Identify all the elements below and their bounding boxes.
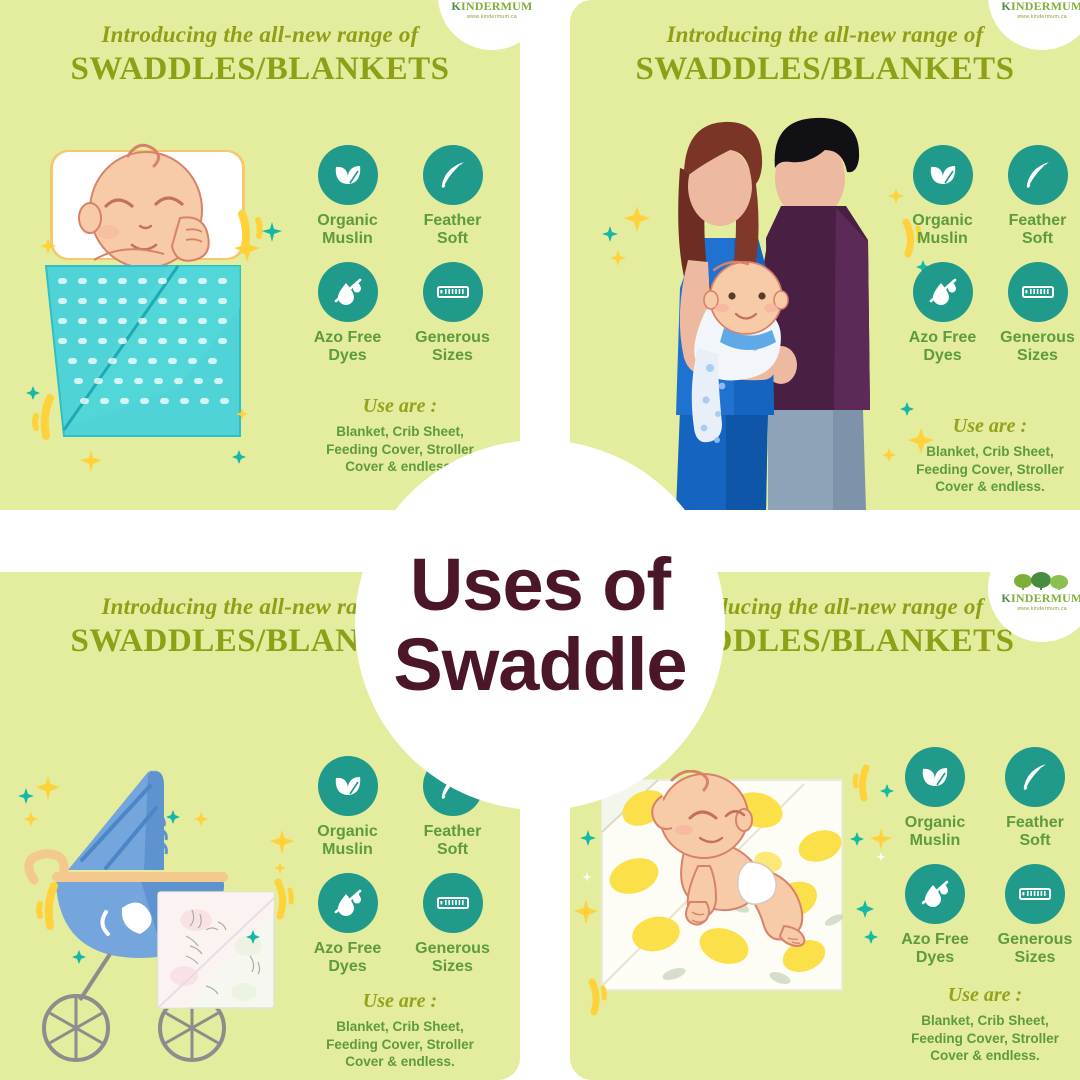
- sparkle-yellow-star-2: [270, 830, 294, 854]
- poster-canvas: Introducing the all-new range of SWADDLE…: [0, 0, 1080, 1080]
- sparkle-yellow-strokes-2: [32, 880, 64, 940]
- sparkle-yellow-strokes: [582, 978, 608, 1026]
- feature-label: Generous Sizes: [995, 329, 1080, 365]
- sparkle-yellow-star-small: [610, 250, 626, 266]
- sparkle-teal-star-2: [26, 386, 40, 400]
- use-title: Use are :: [300, 990, 500, 1013]
- leaves-icon: [913, 145, 973, 205]
- leaves-icon: [318, 756, 378, 816]
- feature-label: Generous Sizes: [405, 329, 500, 365]
- feature-label: Organic Muslin: [300, 823, 395, 859]
- overlay-title-line2: Swaddle: [393, 625, 686, 705]
- sparkle-teal-star: [602, 226, 618, 242]
- use-block-tr: Use are : Blanket, Crib Sheet, Feeding C…: [890, 415, 1080, 496]
- sparkle-white-dot-2: [876, 852, 886, 862]
- sparkle-yellow-star-small: [40, 238, 56, 254]
- feature-azo-free-dyes: Azo Free Dyes: [300, 873, 395, 976]
- use-block-bl: Use are : Blanket, Crib Sheet, Feeding C…: [300, 990, 500, 1071]
- overlay-title-line1: Uses of: [410, 545, 670, 625]
- sparkle-yellow-star-small: [24, 812, 38, 826]
- sparkle-white-dot: [582, 872, 592, 882]
- sparkle-teal-star-3: [232, 450, 246, 464]
- feature-azo-free-dyes: Azo Free Dyes: [900, 262, 985, 365]
- sparkle-yellow-star-small-2: [194, 812, 208, 826]
- feather-icon: [423, 145, 483, 205]
- no-dye-drop-icon: [905, 864, 965, 924]
- ruler-icon: [423, 262, 483, 322]
- feature-label: Generous Sizes: [990, 931, 1080, 967]
- brand-url: www.kindermum.ca: [467, 14, 517, 20]
- feature-generous-sizes: Generous Sizes: [990, 864, 1080, 967]
- brand-name: KINDERMUM: [1001, 592, 1080, 604]
- use-body: Blanket, Crib Sheet, Feeding Cover, Stro…: [890, 1012, 1080, 1065]
- sparkle-teal-star-4: [864, 930, 878, 944]
- feature-grid-br: Organic Muslin Feather Soft Azo Free Dye…: [890, 747, 1080, 967]
- no-dye-drop-icon: [913, 262, 973, 322]
- panel-top-left: Introducing the all-new range of SWADDLE…: [0, 0, 520, 510]
- no-dye-drop-icon: [318, 262, 378, 322]
- feature-label: Generous Sizes: [405, 940, 500, 976]
- feature-label: Feather Soft: [405, 823, 500, 859]
- sparkle-yellow-star: [36, 776, 60, 800]
- sparkle-teal-star: [18, 788, 34, 804]
- illustration-baby-sleeping-under-teal-blanket: [28, 138, 290, 458]
- no-dye-drop-icon: [318, 873, 378, 933]
- use-title: Use are :: [300, 395, 500, 418]
- trees-icon: [1013, 571, 1071, 591]
- feature-label: Azo Free Dyes: [300, 940, 395, 976]
- sparkle-teal-star: [580, 830, 596, 846]
- feature-label: Feather Soft: [995, 212, 1080, 248]
- sparkle-teal-star-4: [246, 930, 260, 944]
- feature-label: Feather Soft: [990, 814, 1080, 850]
- sparkle-teal-star-2: [166, 810, 180, 824]
- ruler-icon: [1005, 864, 1065, 924]
- feature-organic-muslin: Organic Muslin: [300, 756, 395, 859]
- feather-icon: [1008, 145, 1068, 205]
- feature-azo-free-dyes: Azo Free Dyes: [300, 262, 395, 365]
- feature-label: Organic Muslin: [900, 212, 985, 248]
- heading-block-tl: Introducing the all-new range of SWADDLE…: [0, 22, 520, 88]
- heading-title: SWADDLES/BLANKETS: [0, 51, 520, 88]
- feature-grid-tl: Organic Muslin Feather Soft Azo Free Dye…: [300, 145, 500, 365]
- feature-generous-sizes: Generous Sizes: [995, 262, 1080, 365]
- ruler-icon: [423, 873, 483, 933]
- feature-label: Organic Muslin: [300, 212, 395, 248]
- sparkle-teal-star-3: [856, 900, 874, 918]
- illustration-parents-holding-swaddled-baby: [618, 110, 908, 510]
- brand-name: KINDERMUM: [1001, 0, 1080, 12]
- feature-organic-muslin: Organic Muslin: [300, 145, 395, 248]
- feature-label: Organic Muslin: [890, 814, 980, 850]
- sparkle-teal-star-2: [850, 832, 864, 846]
- feature-label: Azo Free Dyes: [300, 329, 395, 365]
- brand-url: www.kindermum.ca: [1017, 14, 1067, 20]
- center-title-badge: Uses of Swaddle: [355, 440, 725, 810]
- sparkle-yellow-star: [234, 236, 260, 262]
- sparkle-teal-star-3: [72, 950, 86, 964]
- sparkle-yellow-dot: [274, 862, 286, 874]
- use-block-br: Use are : Blanket, Crib Sheet, Feeding C…: [890, 984, 1080, 1065]
- feature-label: Azo Free Dyes: [890, 931, 980, 967]
- feature-feather-soft: Feather Soft: [990, 747, 1080, 850]
- use-title: Use are :: [890, 415, 1080, 438]
- feature-generous-sizes: Generous Sizes: [405, 262, 500, 365]
- sparkle-yellow-star-2: [870, 828, 892, 850]
- use-body: Blanket, Crib Sheet, Feeding Cover, Stro…: [890, 443, 1080, 496]
- sparkle-yellow-strokes-2: [852, 764, 878, 812]
- feature-feather-soft: Feather Soft: [405, 145, 500, 248]
- brand-name: KINDERMUM: [451, 0, 532, 12]
- feature-organic-muslin: Organic Muslin: [900, 145, 985, 248]
- ruler-icon: [1008, 262, 1068, 322]
- feather-icon: [1005, 747, 1065, 807]
- sparkle-teal-star-3: [900, 402, 914, 416]
- sparkle-yellow-strokes: [268, 878, 296, 930]
- heading-subtitle: Introducing the all-new range of: [0, 22, 520, 48]
- feature-organic-muslin: Organic Muslin: [890, 747, 980, 850]
- heading-title: SWADDLES/BLANKETS: [570, 51, 1080, 88]
- sparkle-yellow-star: [624, 206, 650, 232]
- sparkle-yellow-star-3: [80, 450, 102, 472]
- use-title: Use are :: [890, 984, 1080, 1007]
- feature-azo-free-dyes: Azo Free Dyes: [890, 864, 980, 967]
- feature-feather-soft: Feather Soft: [995, 145, 1080, 248]
- sparkle-yellow-star: [574, 900, 598, 924]
- sparkle-teal-star: [262, 222, 282, 242]
- feature-label: Feather Soft: [405, 212, 500, 248]
- brand-url: www.kindermum.ca: [1017, 606, 1067, 612]
- sparkle-yellow-dot: [236, 408, 248, 420]
- use-body: Blanket, Crib Sheet, Feeding Cover, Stro…: [300, 1018, 500, 1071]
- panel-top-right: Introducing the all-new range of SWADDLE…: [570, 0, 1080, 510]
- leaves-icon: [905, 747, 965, 807]
- feature-generous-sizes: Generous Sizes: [405, 873, 500, 976]
- feature-label: Azo Free Dyes: [900, 329, 985, 365]
- illustration-baby-sleeping-on-lemon-print-swaddle: [598, 770, 848, 1000]
- leaves-icon: [318, 145, 378, 205]
- feature-grid-tr: Organic Muslin Feather Soft Azo Free Dye…: [900, 145, 1080, 365]
